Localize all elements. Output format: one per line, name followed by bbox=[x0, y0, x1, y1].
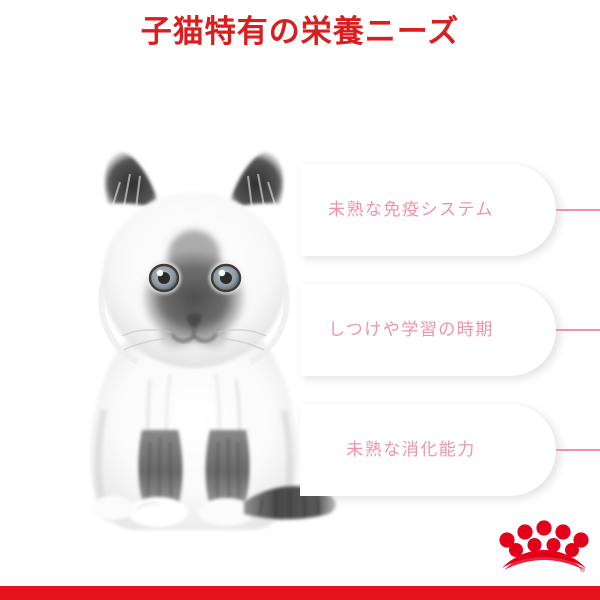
footer-red-bar bbox=[0, 586, 600, 600]
connector-line-1 bbox=[556, 209, 600, 211]
feature-card-digestion: 未熟な消化能力 bbox=[300, 404, 556, 496]
royal-canin-crown-icon: ® bbox=[498, 514, 590, 576]
connector-line-2 bbox=[556, 329, 600, 331]
page-title: 子猫特有の栄養ニーズ bbox=[0, 10, 600, 54]
feature-label: しつけや学習の時期 bbox=[328, 318, 493, 342]
feature-card-immune-system: 未熟な免疫システム bbox=[300, 164, 556, 256]
registered-mark: ® bbox=[580, 566, 586, 574]
feature-label: 未熟な消化能力 bbox=[346, 438, 476, 462]
infographic-page: 子猫特有の栄養ニーズ bbox=[0, 0, 600, 600]
feature-label: 未熟な免疫システム bbox=[328, 198, 494, 222]
connector-line-3 bbox=[556, 449, 600, 451]
feature-card-training-period: しつけや学習の時期 bbox=[300, 284, 556, 376]
